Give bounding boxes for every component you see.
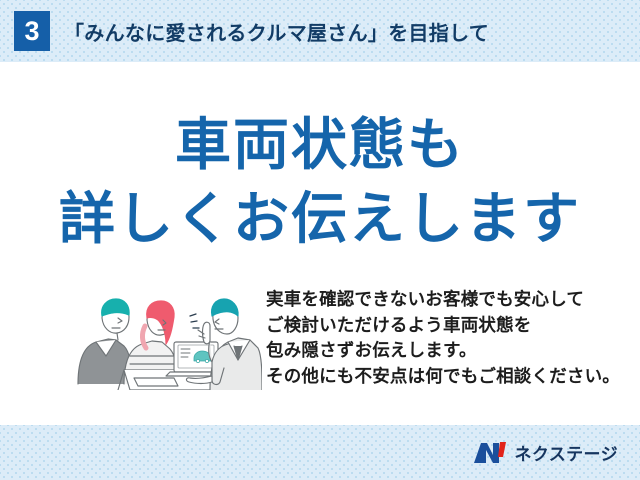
brand-logo: ネクステージ	[473, 440, 618, 465]
emphasis-marks	[190, 314, 199, 328]
headline-line-2: 詳しくお伝えします	[0, 174, 640, 255]
showroom-consultation-illustration	[62, 282, 262, 390]
nextage-n-mark-icon	[473, 442, 507, 464]
body-line-2: ご検討いただけるよう車両状態を	[266, 313, 626, 339]
body-copy: 実車を確認できないお客様でも安心して ご検討いただけるよう車両状態を 包み隠さず…	[266, 287, 626, 389]
slide-footer: ネクステージ	[0, 425, 640, 480]
slide-body: 車両状態も 詳しくお伝えします	[0, 62, 640, 425]
body-line-3: 包み隠さずお伝えします。	[266, 338, 626, 364]
desk-document	[134, 378, 178, 386]
promo-slide: 3 「みんなに愛されるクルマ屋さん」を目指して 車両状態も 詳しくお伝えします	[0, 0, 640, 480]
body-line-4: その他にも不安点は何でもご相談ください。	[266, 364, 626, 390]
headline-line-1: 車両状態も	[0, 100, 640, 181]
header-title: 「みんなに愛されるクルマ屋さん」を目指して	[64, 17, 489, 46]
slide-header: 3 「みんなに愛されるクルマ屋さん」を目指して	[0, 0, 640, 62]
body-line-1: 実車を確認できないお客様でも安心して	[266, 287, 626, 313]
brand-name: ネクステージ	[514, 440, 618, 465]
step-number-badge: 3	[14, 11, 50, 51]
